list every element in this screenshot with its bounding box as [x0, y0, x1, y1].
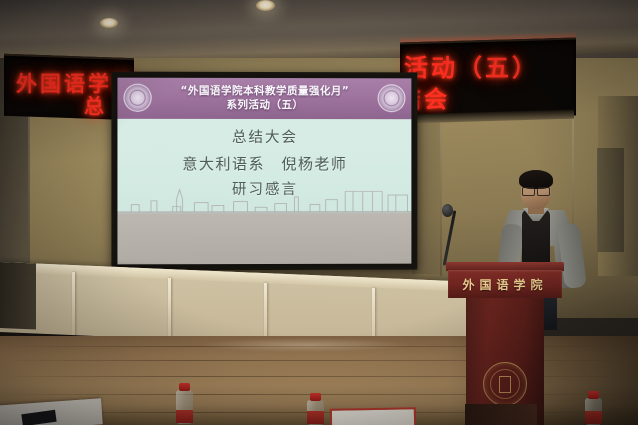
water-bottle — [585, 398, 602, 425]
podium-label: 外国语学院 — [462, 276, 547, 293]
floor-reflection — [200, 338, 410, 352]
university-seal-icon — [124, 84, 152, 112]
bottle-cap — [310, 393, 321, 401]
red-bordered-certificate — [330, 407, 416, 425]
slide-header-text: “外国语学院本科教学质量强化月” 系列活动（五） — [180, 84, 349, 112]
bottle-label — [307, 411, 324, 424]
stage-left-shadow — [0, 262, 36, 330]
downlight-icon — [100, 18, 118, 28]
bottle-label — [176, 410, 193, 423]
microphone-icon — [442, 204, 453, 217]
slide-footer-band — [117, 214, 411, 265]
bottle-label — [585, 411, 602, 424]
water-bottle — [176, 390, 193, 424]
podium-front-plate: 外国语学院 — [448, 270, 562, 298]
projection-screen-surface: “外国语学院本科教学质量强化月” 系列活动（五） 总结大会 意大利语系 倪杨老师… — [117, 78, 411, 265]
university-seal-icon — [378, 84, 406, 112]
water-bottle — [307, 400, 324, 425]
wall-recess — [597, 148, 624, 252]
city-skyline-illustration — [117, 184, 411, 214]
presentation-slide: “外国语学院本科教学质量强化月” 系列活动（五） 总结大会 意大利语系 倪杨老师… — [117, 78, 411, 265]
slide-body-line2: 意大利语系 倪杨老师 — [182, 151, 347, 177]
podium: 外国语学院 — [446, 262, 564, 425]
led-banner-right-line1: 活动（五） — [404, 48, 539, 83]
led-banner-left-line2: 总 — [84, 90, 107, 119]
glasses-icon — [522, 187, 550, 194]
downlight-icon — [256, 0, 275, 11]
dark-foreground-object — [465, 404, 537, 425]
slide-header-band: “外国语学院本科教学质量强化月” 系列活动（五） — [117, 78, 411, 119]
bottle-cap — [179, 383, 190, 391]
projection-screen: “外国语学院本科教学质量强化月” 系列活动（五） 总结大会 意大利语系 倪杨老师… — [111, 72, 417, 271]
bottle-cap — [588, 391, 599, 399]
slide-header-line1: “外国语学院本科教学质量强化月” — [180, 84, 349, 98]
auditorium-scene: 外国语学院 总 活动（五） 结会 “外国语学院本科教学质量强化月” 系列活动（五… — [0, 0, 638, 425]
slide-body-line1: 总结大会 — [232, 125, 298, 151]
slide-header-line2: 系列活动（五） — [180, 98, 349, 112]
university-emblem-icon — [483, 362, 527, 406]
